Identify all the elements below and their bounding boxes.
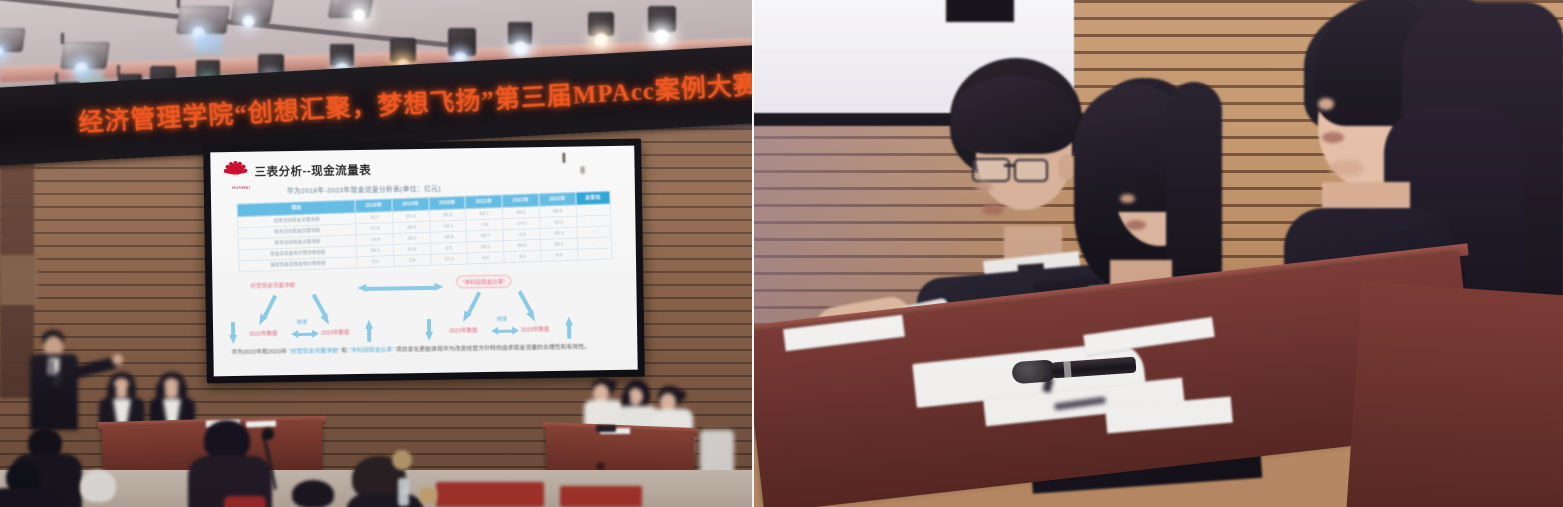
diagram-transition-label: 转变 — [297, 319, 307, 326]
cash-flow-table: 项目 2018年 2019年 2020年 2021年 2022年 2023年 总… — [236, 190, 612, 272]
table-header-cell: 总变动 — [575, 191, 610, 205]
diagonal-arrow-icon — [309, 293, 333, 327]
eyeglasses-icon — [972, 158, 1010, 182]
diagonal-arrow-icon — [515, 289, 539, 323]
diagram-transition-label: 转变 — [497, 316, 507, 323]
wooden-podium-side — [1346, 281, 1563, 507]
table-cell: ··· — [577, 248, 612, 260]
slide-conclusion: 华为2022年和2023年 “经营现金流量净额” 和 “净利润现金比率” 项目变… — [231, 342, 621, 358]
table-cell: 3.6 — [394, 254, 431, 266]
diagram-year-from: 2022年数值 — [449, 326, 477, 334]
left-photo-panel: 经济管理学院“创想汇聚，梦想飞扬”第三届MPAcc案例大赛 HUAWEI 三表分… — [0, 0, 752, 507]
down-arrow-icon — [425, 319, 433, 341]
screenshot-root: 经济管理学院“创想汇聚，梦想飞扬”第三届MPAcc案例大赛 HUAWEI 三表分… — [0, 0, 1563, 507]
laptop — [596, 425, 616, 432]
eyeglasses-icon — [1014, 159, 1048, 182]
up-arrow-icon — [365, 320, 373, 342]
audience-signage — [436, 482, 544, 507]
screen-smudge — [562, 153, 565, 163]
diagonal-arrow-icon — [256, 293, 280, 327]
table-cell: 5.1 — [357, 255, 394, 267]
diagram-left-label: 经营现金流量净额 — [250, 281, 295, 290]
cup — [420, 488, 437, 503]
double-arrow-icon — [291, 330, 319, 338]
diagonal-arrow-icon — [459, 290, 483, 324]
projection-screen: HUAWEI 三表分析--现金流量表 华为2018年-2023年现金流量分析表(… — [210, 146, 637, 377]
right-photo-panel — [754, 0, 1563, 507]
slide-title: 三表分析--现金流量表 — [254, 162, 371, 180]
conclusion-highlight: “经营现金流量净额” — [289, 348, 340, 355]
table-cell: 8.9 — [504, 250, 541, 262]
double-arrow-icon — [357, 283, 443, 293]
water-bottle — [398, 478, 409, 506]
microphone — [262, 428, 274, 440]
conclusion-part: 项目变化更能体现华为改变经营方针转向追求现金流量的合理性和有效性。 — [396, 344, 590, 353]
slide-subtitle: 华为2018年-2023年现金流量分析表(单位：亿元) — [287, 183, 441, 195]
conclusion-part: 华为2022年和2023年 — [231, 349, 287, 356]
up-arrow-icon — [565, 317, 573, 339]
projection-screen-frame: HUAWEI 三表分析--现金流量表 华为2018年-2023年现金流量分析表(… — [203, 139, 645, 384]
huawei-logo: HUAWEI — [222, 160, 248, 186]
huawei-wordmark: HUAWEI — [232, 185, 250, 190]
conclusion-highlight: “净利润现金比率” — [349, 347, 394, 354]
paper-documents — [246, 420, 276, 427]
audience-signage — [560, 486, 642, 507]
microphone-band — [1063, 361, 1071, 377]
diagram-right-label: “净利润现金比率” — [456, 275, 511, 289]
screen-smudge — [581, 166, 585, 173]
table-cell: 8.5 — [541, 249, 578, 261]
diagram-year-from: 2022年数值 — [249, 329, 277, 337]
diagram-year-to: 2023年数值 — [521, 325, 549, 333]
double-arrow-icon — [491, 327, 519, 335]
diagram-year-to: 2023年数值 — [321, 328, 349, 336]
wall-panel-detail — [0, 255, 38, 305]
conclusion-part: 和 — [341, 348, 347, 354]
projection-screen-shadow — [946, 0, 1014, 22]
down-arrow-icon — [229, 322, 237, 344]
table-cell: 6.4 — [467, 252, 504, 264]
table-cell: 17.2 — [431, 253, 468, 265]
